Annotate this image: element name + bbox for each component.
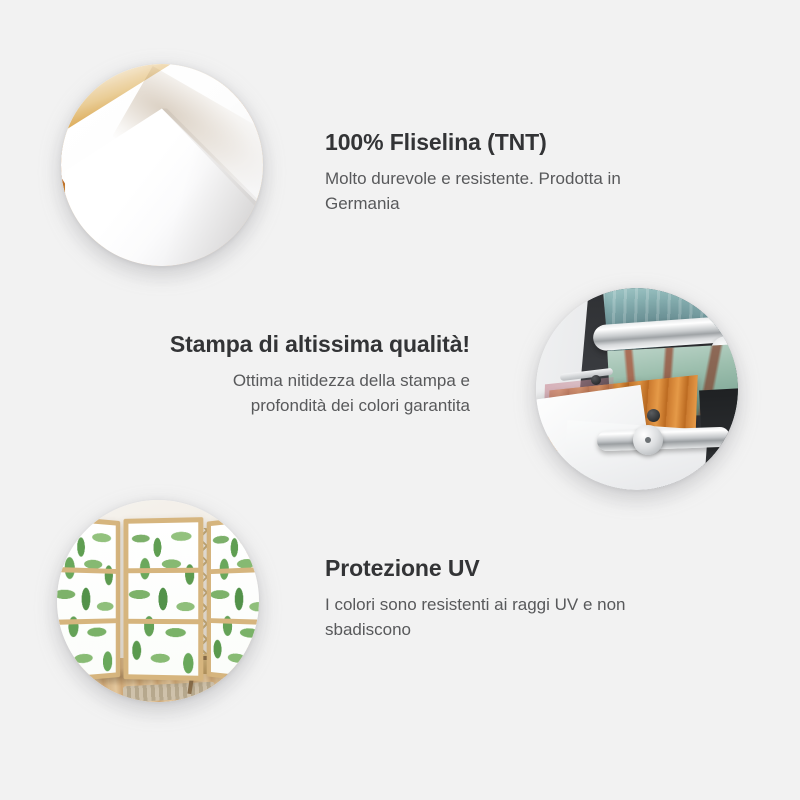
feature-copy-fliselina: 100% Fliselina (TNT) Molto durevole e re… [325, 129, 685, 216]
panel-rail [128, 568, 198, 574]
feature-list: 100% Fliselina (TNT) Molto durevole e re… [0, 0, 800, 800]
room-divider-photo-inner [57, 500, 259, 702]
divider-panel [57, 515, 120, 683]
feature-item-protezione-uv: Protezione UV I colori sono resistenti a… [0, 495, 800, 725]
divider-panel [207, 514, 259, 684]
tropical-leaf-pattern [57, 521, 116, 678]
peeling-wallpaper-photo-inner [61, 64, 263, 266]
feature-body: I colori sono resistenti ai raggi UV e n… [325, 592, 665, 642]
feature-heading: Stampa di altissima qualità! [110, 331, 470, 359]
feature-item-fliselina: 100% Fliselina (TNT) Molto durevole e re… [0, 55, 800, 280]
printing-machine-photo-inner [536, 288, 738, 490]
feature-heading: Protezione UV [325, 555, 685, 583]
feature-copy-stampa-qualita: Stampa di altissima qualità! Ottima niti… [110, 331, 470, 418]
panel-rail [128, 618, 198, 623]
peeling-wallpaper-photo [61, 64, 263, 266]
feature-item-stampa-qualita: Stampa di altissima qualità! Ottima niti… [0, 283, 800, 508]
tropical-leaf-pattern [128, 522, 198, 675]
feature-body: Ottima nitidezza della stampa e profondi… [170, 368, 470, 418]
room-divider-photo [57, 500, 259, 702]
tropical-leaf-pattern [211, 520, 259, 678]
feature-heading: 100% Fliselina (TNT) [325, 129, 685, 157]
machine-knob-upper [591, 375, 601, 385]
tropical-room-divider [57, 518, 259, 680]
feature-body: Molto durevole e resistente. Prodotta in… [325, 166, 665, 216]
feature-copy-protezione-uv: Protezione UV I colori sono resistenti a… [325, 555, 685, 642]
divider-panel [123, 517, 203, 680]
printing-machine-photo [536, 288, 738, 490]
